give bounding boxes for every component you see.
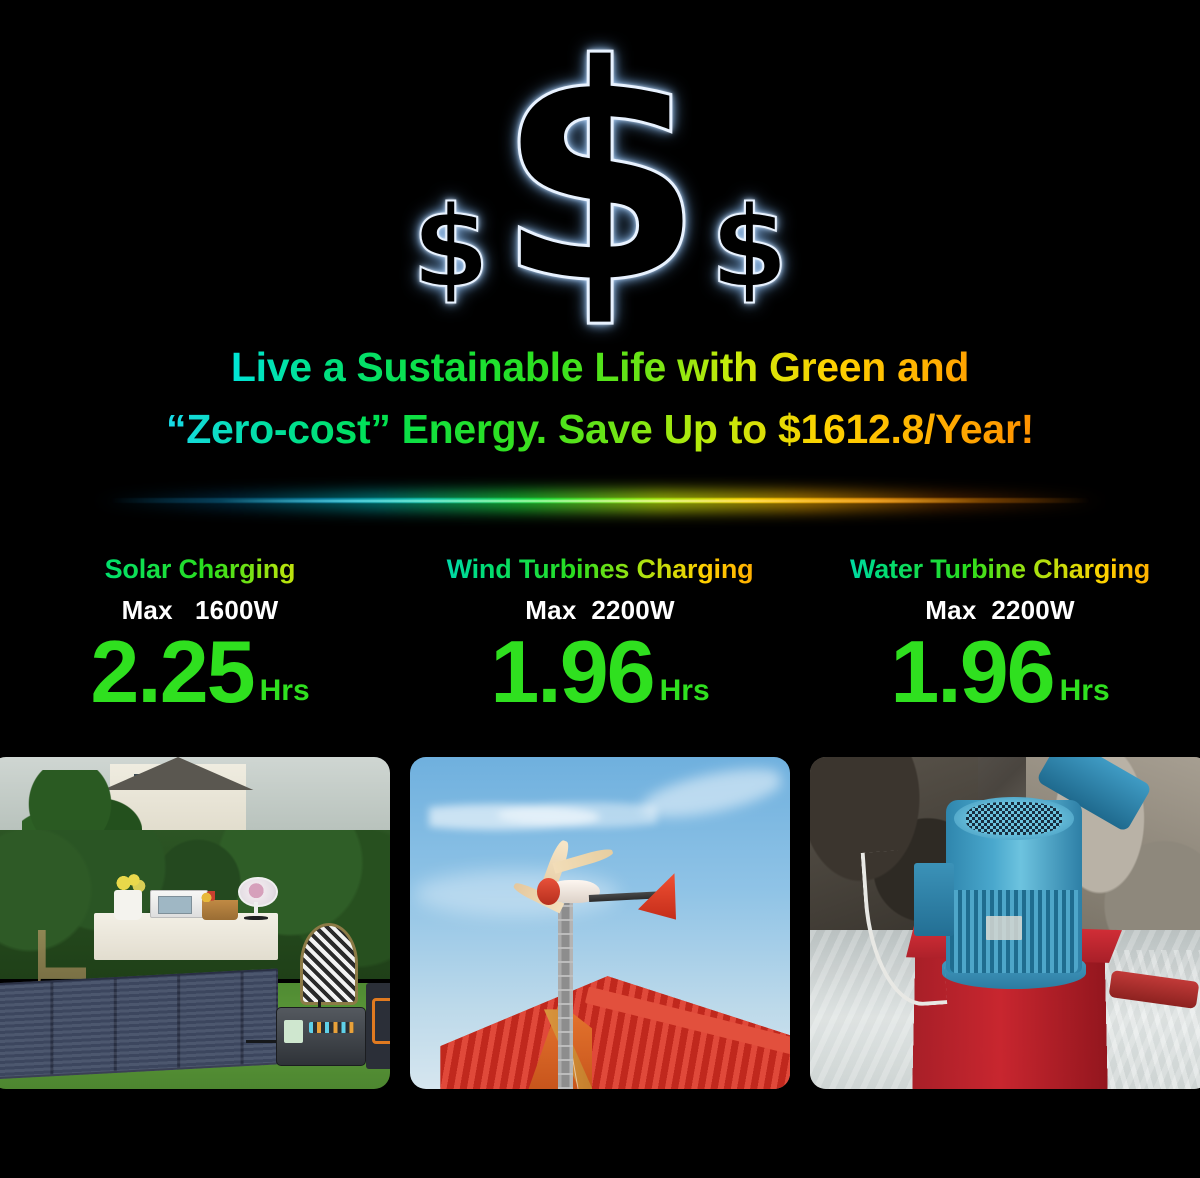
stat-title-solar: Solar Charging bbox=[0, 552, 400, 586]
dollar-sign-icon-right: $$ bbox=[710, 199, 788, 298]
dollar-sign-icon-center: $$ bbox=[496, 44, 705, 308]
dollar-glyph: $$ bbox=[496, 44, 705, 308]
divider-highlight bbox=[220, 500, 980, 502]
water-scene bbox=[810, 757, 1200, 1089]
water-turbine-photo bbox=[810, 757, 1200, 1089]
headline-line-2-text: “Zero-cost” Energy. Save Up to $1612.8/Y… bbox=[166, 406, 1034, 452]
stat-unit-solar: Hrs bbox=[260, 676, 310, 706]
stat-unit-water: Hrs bbox=[1060, 676, 1110, 706]
stat-title-water: Water Turbine Charging bbox=[800, 552, 1200, 586]
solar-panel-case bbox=[366, 983, 390, 1069]
headline: Live a Sustainable Life with Green and “… bbox=[0, 336, 1200, 460]
dollar-glyph: $$ bbox=[412, 199, 490, 298]
table bbox=[94, 913, 278, 959]
fan-base bbox=[244, 916, 267, 920]
charging-stats-row: Solar Charging Max 1600W 2.25 Hrs Wind T… bbox=[0, 552, 1200, 742]
dollar-glyph-outline: $ bbox=[412, 199, 490, 298]
fan-head bbox=[238, 877, 278, 908]
motor-vent-grille bbox=[966, 802, 1062, 835]
solar-scene bbox=[0, 757, 390, 1089]
turbine-mast bbox=[558, 903, 573, 1089]
headline-line-2: “Zero-cost” Energy. Save Up to $1612.8/Y… bbox=[0, 398, 1200, 460]
dollar-glyph-outline: $ bbox=[710, 199, 788, 298]
dollar-sign-icon-left: $$ bbox=[412, 199, 490, 298]
stat-unit-wind: Hrs bbox=[660, 676, 710, 706]
headline-line-1-text: Live a Sustainable Life with Green and bbox=[231, 344, 969, 390]
jug bbox=[114, 890, 142, 920]
photo-row bbox=[0, 757, 1200, 1089]
stat-value-row-wind: 1.96 Hrs bbox=[400, 628, 800, 716]
wind-scene bbox=[410, 757, 790, 1089]
stat-value-wind: 1.96 bbox=[490, 628, 653, 716]
solar-charging-photo bbox=[0, 757, 390, 1089]
stat-card-water: Water Turbine Charging Max 2200W 1.96 Hr… bbox=[800, 552, 1200, 742]
stat-value-row-water: 1.96 Hrs bbox=[800, 628, 1200, 716]
portable-power-station bbox=[276, 1007, 366, 1065]
chair-right bbox=[300, 923, 358, 1005]
motor-nameplate bbox=[986, 916, 1022, 939]
headline-line-1: Live a Sustainable Life with Green and bbox=[0, 336, 1200, 398]
dollar-glyph: $$ bbox=[710, 199, 788, 298]
dollar-logo-group: $$ $$ $$ bbox=[0, 46, 1200, 308]
solar-panel-array bbox=[0, 969, 278, 1080]
dollar-glyph-outline: $ bbox=[496, 44, 705, 308]
gradient-divider bbox=[0, 478, 1200, 524]
stat-value-water: 1.96 bbox=[890, 628, 1053, 716]
wind-turbine-photo bbox=[410, 757, 790, 1089]
stat-value-solar: 2.25 bbox=[90, 628, 253, 716]
stat-title-wind: Wind Turbines Charging bbox=[400, 552, 800, 586]
electric-fan bbox=[238, 877, 274, 920]
turbine-nose-cone bbox=[537, 878, 560, 905]
promo-page: $$ $$ $$ Live a Sustainable Life with Gr… bbox=[0, 0, 1200, 1178]
fruit-basket bbox=[202, 900, 238, 920]
stat-card-solar: Solar Charging Max 1600W 2.25 Hrs bbox=[0, 552, 400, 742]
stat-card-wind: Wind Turbines Charging Max 2200W 1.96 Hr… bbox=[400, 552, 800, 742]
stat-value-row-solar: 2.25 Hrs bbox=[0, 628, 400, 716]
